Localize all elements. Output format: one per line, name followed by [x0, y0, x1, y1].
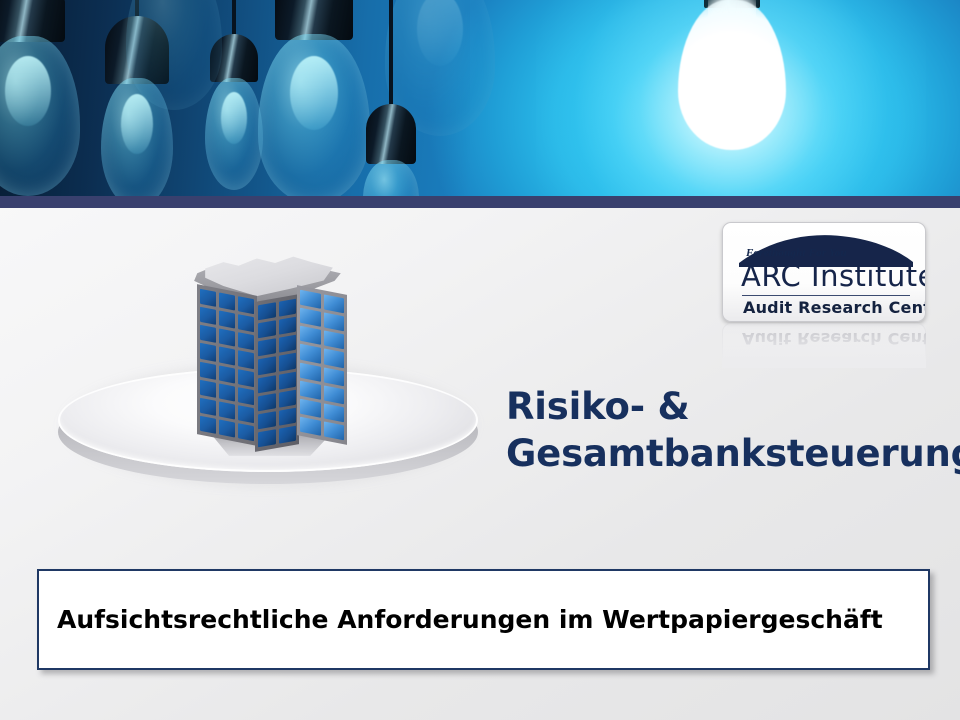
- light-bulb-icon: [132, 0, 216, 130]
- bulb-body: [678, 0, 786, 150]
- logo-divider: [742, 295, 910, 296]
- page-title: Risiko- & Gesamtbanksteuerung: [506, 384, 938, 477]
- slide: Forethought For You ARC Institute Audit …: [0, 0, 960, 720]
- tower-facade-right: [297, 285, 347, 445]
- subtitle-box: Aufsichtsrechtliche Anforderungen im Wer…: [37, 569, 930, 670]
- glowing-light-bulb-icon: [626, 0, 836, 196]
- logo-tagline: Forethought For You: [746, 247, 847, 259]
- header-banner-image: [0, 0, 960, 196]
- office-tower: [181, 246, 361, 454]
- subtitle-text: Aufsichtsrechtliche Anforderungen im Wer…: [57, 605, 883, 634]
- logo-name: ARC Institute: [741, 259, 926, 293]
- logo-reflection-fade: [722, 323, 926, 368]
- page-title-line-1: Risiko- &: [506, 384, 938, 431]
- page-title-line-2: Gesamtbanksteuerung: [506, 431, 938, 478]
- logo-card: Forethought For You ARC Institute Audit …: [722, 222, 926, 322]
- tower-facade-center: [255, 294, 299, 452]
- arc-institute-logo: Forethought For You ARC Institute Audit …: [722, 222, 926, 368]
- logo-reflection: Audit Research Center: [722, 323, 926, 368]
- office-building-illustration: [48, 240, 488, 502]
- header-separator-band: [0, 196, 960, 208]
- light-bulb-icon: [266, 0, 362, 196]
- tower-facade-left: [197, 284, 257, 446]
- light-bulb-icon: [0, 0, 78, 196]
- light-bulb-icon: [360, 0, 422, 196]
- logo-subtitle: Audit Research Center: [743, 298, 926, 317]
